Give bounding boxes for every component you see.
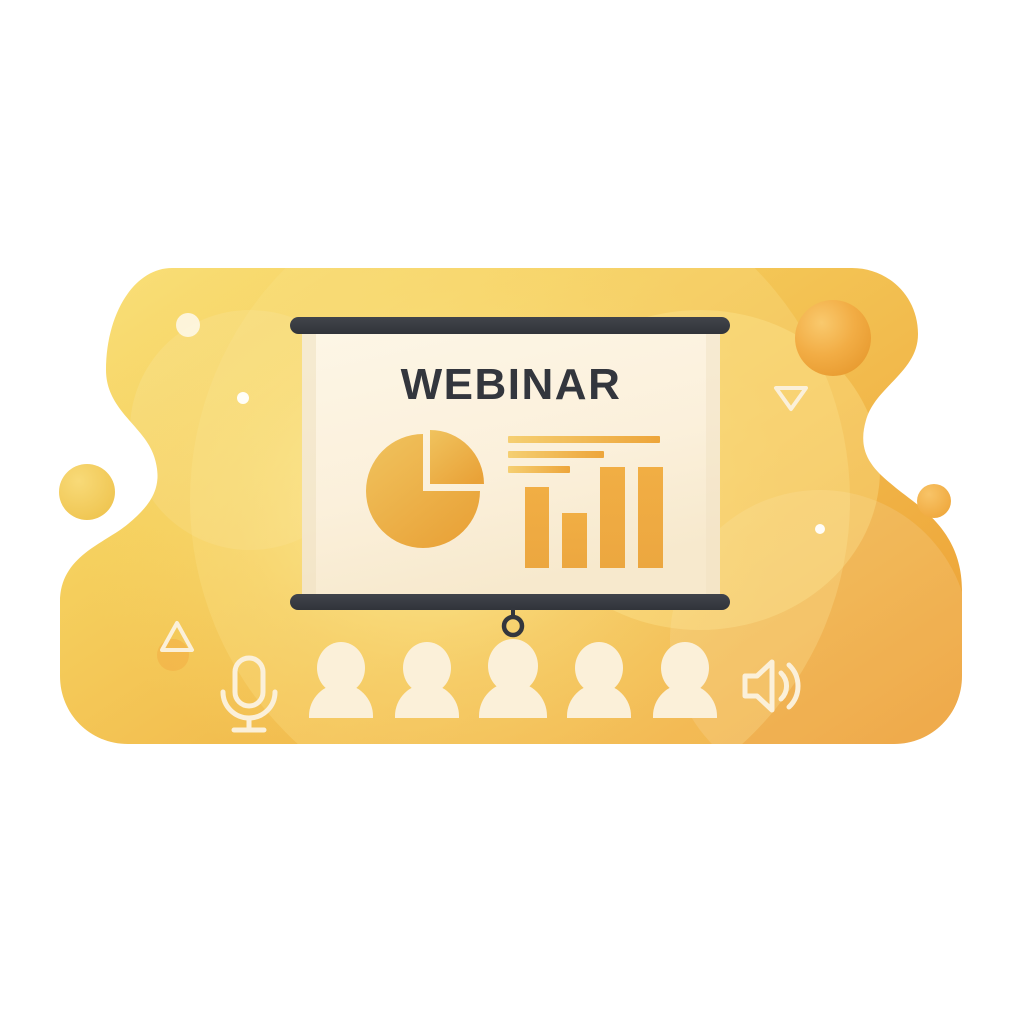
dot-decoration-small-left (237, 392, 249, 404)
caption-line-3 (508, 466, 570, 473)
screen-top-bar (290, 317, 730, 334)
page-title: WEBINAR (401, 360, 622, 409)
floating-circle-right (917, 484, 951, 518)
bar-2 (562, 513, 587, 568)
floating-circle-left (59, 464, 115, 520)
screen-left-shade (302, 331, 316, 600)
bar-3 (600, 467, 625, 568)
projector-screen: WEBINAR (290, 317, 730, 635)
caption-line-1 (508, 436, 660, 443)
webinar-badge-illustration: WEBINAR (0, 0, 1024, 1024)
caption-line-2 (508, 451, 604, 458)
bar-4 (638, 467, 663, 568)
screen-right-shade (706, 331, 720, 600)
illustration-canvas: WEBINAR (0, 0, 1024, 1024)
screen-bottom-bar (290, 594, 730, 610)
dot-decoration-orange (157, 639, 189, 671)
dot-decoration-small-right (815, 524, 825, 534)
dot-decoration-large (176, 313, 200, 337)
bar-1 (525, 487, 549, 568)
sphere-decoration (795, 300, 871, 376)
